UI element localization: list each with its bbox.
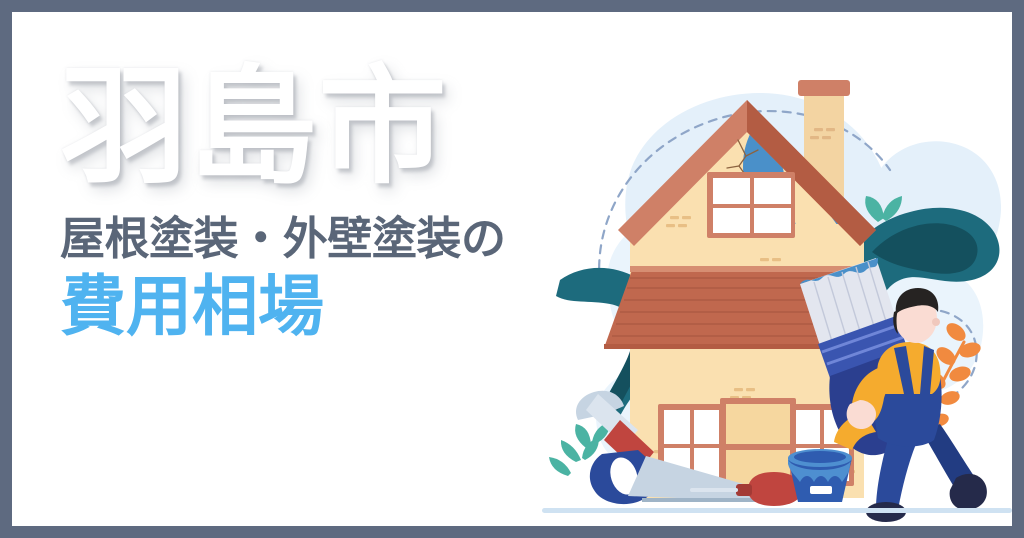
highlight-text: 費用相場 — [60, 270, 620, 344]
paint-bucket — [788, 449, 852, 502]
subtitle: 屋根塗装・外壁塗装の — [60, 214, 620, 264]
banner-frame: 羽島市 屋根塗装・外壁塗装の 費用相場 — [0, 0, 1024, 538]
ground-line — [542, 508, 1012, 513]
attic-window — [707, 172, 795, 238]
headline-group: 羽島市 屋根塗装・外壁塗装の 費用相場 — [60, 64, 620, 344]
page-title: 羽島市 — [60, 64, 620, 192]
banner-canvas: 羽島市 屋根塗装・外壁塗装の 費用相場 — [12, 12, 1012, 526]
